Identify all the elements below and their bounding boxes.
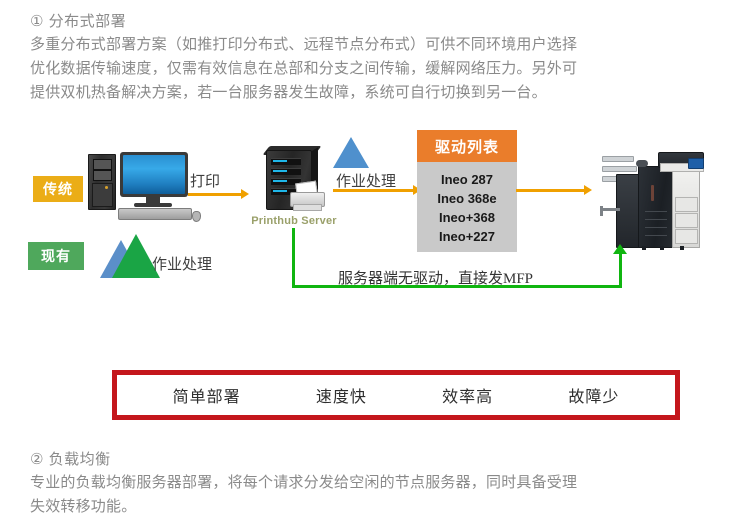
printhub-server-icon (260, 146, 326, 216)
mfp-printer-icon (600, 144, 704, 259)
arrow-print-line (188, 193, 243, 196)
benefit-item: 速度快 (316, 383, 367, 407)
section-2-heading: ② 负载均衡 (30, 448, 111, 469)
arrow-label-print: 打印 (190, 170, 220, 191)
printhub-server-label: Printhub Server (248, 215, 340, 227)
server-printer-icon (290, 188, 323, 210)
driver-list-title: 驱动列表 (417, 130, 517, 162)
arrow-print-head-icon (241, 189, 249, 199)
benefit-item: 效率高 (442, 383, 493, 407)
driver-list-items: Ineo 287 Ineo 368e Ineo+368 Ineo+227 (417, 162, 517, 252)
triangle-blue-top-icon (333, 137, 369, 168)
green-path-vertical-right (619, 252, 622, 288)
green-path-vertical-left (292, 228, 295, 288)
label-chip-traditional: 传统 (33, 176, 83, 202)
page-canvas: ① 分布式部署 多重分布式部署方案（如推打印分布式、远程节点分布式）可供不同环境… (0, 0, 750, 528)
desktop-computer-icon (88, 152, 194, 218)
pc-tower-icon (88, 154, 116, 210)
driver-list-item: Ineo 368e (437, 190, 496, 207)
green-path-arrow-head-icon (613, 244, 627, 254)
pc-keyboard-icon (118, 208, 192, 220)
arrow-to-mfp-line (516, 189, 586, 192)
benefit-item: 故障少 (568, 383, 619, 407)
arrow-to-mfp-head-icon (584, 185, 592, 195)
driver-list-item: Ineo 287 (441, 171, 493, 188)
pc-monitor-icon (120, 152, 188, 197)
section-1-paragraph: 多重分布式部署方案（如推打印分布式、远程节点分布式）可供不同环境用户选择 优化数… (30, 33, 690, 105)
section-1-heading: ① 分布式部署 (30, 10, 126, 31)
section-2-paragraph: 专业的负载均衡服务器部署，将每个请求分发给空闲的节点服务器，同时具备受理 失效转… (30, 471, 690, 519)
pc-mouse-icon (192, 211, 201, 222)
driver-list-box: 驱动列表 Ineo 287 Ineo 368e Ineo+368 Ineo+22… (417, 130, 517, 252)
arrow-label-job-processing-top: 作业处理 (336, 170, 396, 191)
label-chip-existing: 现有 (28, 242, 84, 270)
green-path-label: 服务器端无驱动，直接发MFP (338, 267, 533, 288)
arrow-label-job-processing-bottom: 作业处理 (152, 253, 212, 274)
driver-list-item: Ineo+227 (439, 228, 495, 245)
arrow-job-top-line (333, 189, 415, 192)
benefit-item: 简单部署 (173, 383, 241, 407)
driver-list-item: Ineo+368 (439, 209, 495, 226)
benefits-bar: 简单部署 速度快 效率高 故障少 (112, 370, 680, 420)
